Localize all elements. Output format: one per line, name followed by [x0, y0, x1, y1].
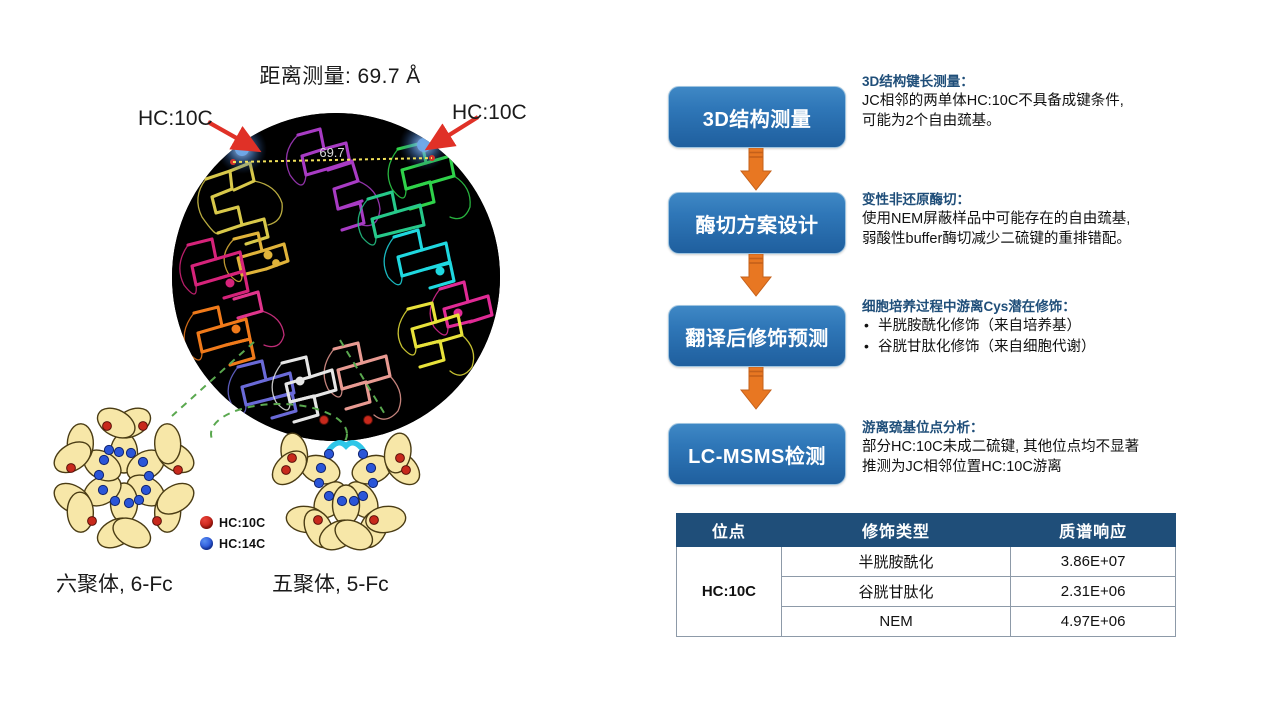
- caption-hexamer: 六聚体, 6-Fc: [56, 568, 173, 598]
- ms-response-table: 位点 修饰类型 质谱响应 HC:10C 半胱胺酰化 3.86E+07 谷胱甘肽化…: [676, 513, 1176, 637]
- note-line-1-1: 弱酸性buffer酶切减少二硫键的重排错配。: [862, 229, 1262, 249]
- legend-item-hc10c: HC:10C: [200, 512, 265, 533]
- table-cell-response-0: 3.86E+07: [1011, 547, 1176, 577]
- flow-step-ptm-prediction[interactable]: 翻译后修饰预测: [668, 305, 846, 367]
- flow-note-digestion-design: 变性非还原酶切： 使用NEM屏蔽样品中可能存在的自由巯基, 弱酸性buffer酶…: [862, 190, 1262, 249]
- distance-value-on-line: 69.7: [319, 145, 344, 160]
- table-row: HC:10C 半胱胺酰化 3.86E+07: [677, 547, 1176, 577]
- note-line-0-0: JC相邻的两单体HC:10C不具备成键条件,: [862, 91, 1262, 111]
- flow-step-lcmsms[interactable]: LC-MSMS检测: [668, 423, 846, 485]
- down-arrow-icon-1: [740, 148, 772, 191]
- pentamer-fc-diagram: [258, 382, 434, 572]
- blue-circle-marker-icon: [200, 537, 213, 550]
- note-title-3: 游离巯基位点分析：: [862, 418, 1262, 437]
- table-header-modification: 修饰类型: [781, 514, 1010, 547]
- table-cell-response-2: 4.97E+06: [1011, 607, 1176, 637]
- note-line-3-0: 部分HC:10C未成二硫键, 其他位点均不显著: [862, 437, 1262, 457]
- workflow-panel: 3D结构测量 酶切方案设计 翻译后修饰预测 LC-MSMS检测 3D结构键长测量…: [640, 0, 1280, 720]
- note-line-3-1: 推测为JC相邻位置HC:10C游离: [862, 457, 1262, 477]
- flow-note-3d-structure: 3D结构键长测量： JC相邻的两单体HC:10C不具备成键条件, 可能为2个自由…: [862, 72, 1262, 131]
- pointer-arrow-left: [206, 118, 268, 158]
- red-circle-marker-icon: [200, 516, 213, 529]
- hc10c-label-left: HC:10C: [138, 107, 213, 131]
- note-title-1: 变性非还原酶切：: [862, 190, 1262, 209]
- down-arrow-icon-3: [740, 367, 772, 410]
- table-cell-modification-2: NEM: [781, 607, 1010, 637]
- note-title-0: 3D结构键长测量：: [862, 72, 1262, 91]
- legend-label-hc14c: HC:14C: [219, 537, 265, 551]
- fc-legend: HC:10C HC:14C: [200, 512, 265, 554]
- legend-item-hc14c: HC:14C: [200, 533, 265, 554]
- structure-panel: 距离测量: 69.7 Å .rb{fill:none;stroke-width:…: [0, 0, 640, 720]
- slide-canvas: 距离测量: 69.7 Å .rb{fill:none;stroke-width:…: [0, 0, 1280, 720]
- caption-pentamer: 五聚体, 5-Fc: [272, 568, 389, 598]
- flow-note-ptm-prediction: 细胞培养过程中游离Cys潜在修饰： 半胱胺酰化修饰（来自培养基） 谷胱甘肽化修饰…: [862, 297, 1262, 358]
- note-line-0-1: 可能为2个自由巯基。: [862, 111, 1262, 131]
- distance-measurement-title: 距离测量: 69.7 Å: [170, 60, 510, 90]
- hexamer-fc-diagram: [38, 392, 210, 564]
- flow-note-lcmsms: 游离巯基位点分析： 部分HC:10C未成二硫键, 其他位点均不显著 推测为JC相…: [862, 418, 1262, 477]
- table-header-row: 位点 修饰类型 质谱响应: [677, 514, 1176, 547]
- note-title-2: 细胞培养过程中游离Cys潜在修饰：: [862, 297, 1262, 316]
- table-header-site: 位点: [677, 514, 782, 547]
- legend-label-hc10c: HC:10C: [219, 516, 265, 530]
- hc10c-label-right: HC:10C: [452, 101, 527, 125]
- jc-chain-curve: [329, 443, 363, 450]
- note-bullet-2-1: 谷胱甘肽化修饰（来自细胞代谢）: [862, 337, 1262, 358]
- flow-step-digestion-design[interactable]: 酶切方案设计: [668, 192, 846, 254]
- flow-step-3d-structure[interactable]: 3D结构测量: [668, 86, 846, 148]
- table-cell-modification-1: 谷胱甘肽化: [781, 577, 1010, 607]
- note-bullet-list-2: 半胱胺酰化修饰（来自培养基） 谷胱甘肽化修饰（来自细胞代谢）: [862, 316, 1262, 358]
- table-cell-modification-0: 半胱胺酰化: [781, 547, 1010, 577]
- note-line-1-0: 使用NEM屏蔽样品中可能存在的自由巯基,: [862, 209, 1262, 229]
- note-bullet-2-0: 半胱胺酰化修饰（来自培养基）: [862, 316, 1262, 337]
- table-cell-response-1: 2.31E+06: [1011, 577, 1176, 607]
- down-arrow-icon-2: [740, 254, 772, 297]
- table-header-response: 质谱响应: [1011, 514, 1176, 547]
- table-cell-site: HC:10C: [677, 547, 782, 637]
